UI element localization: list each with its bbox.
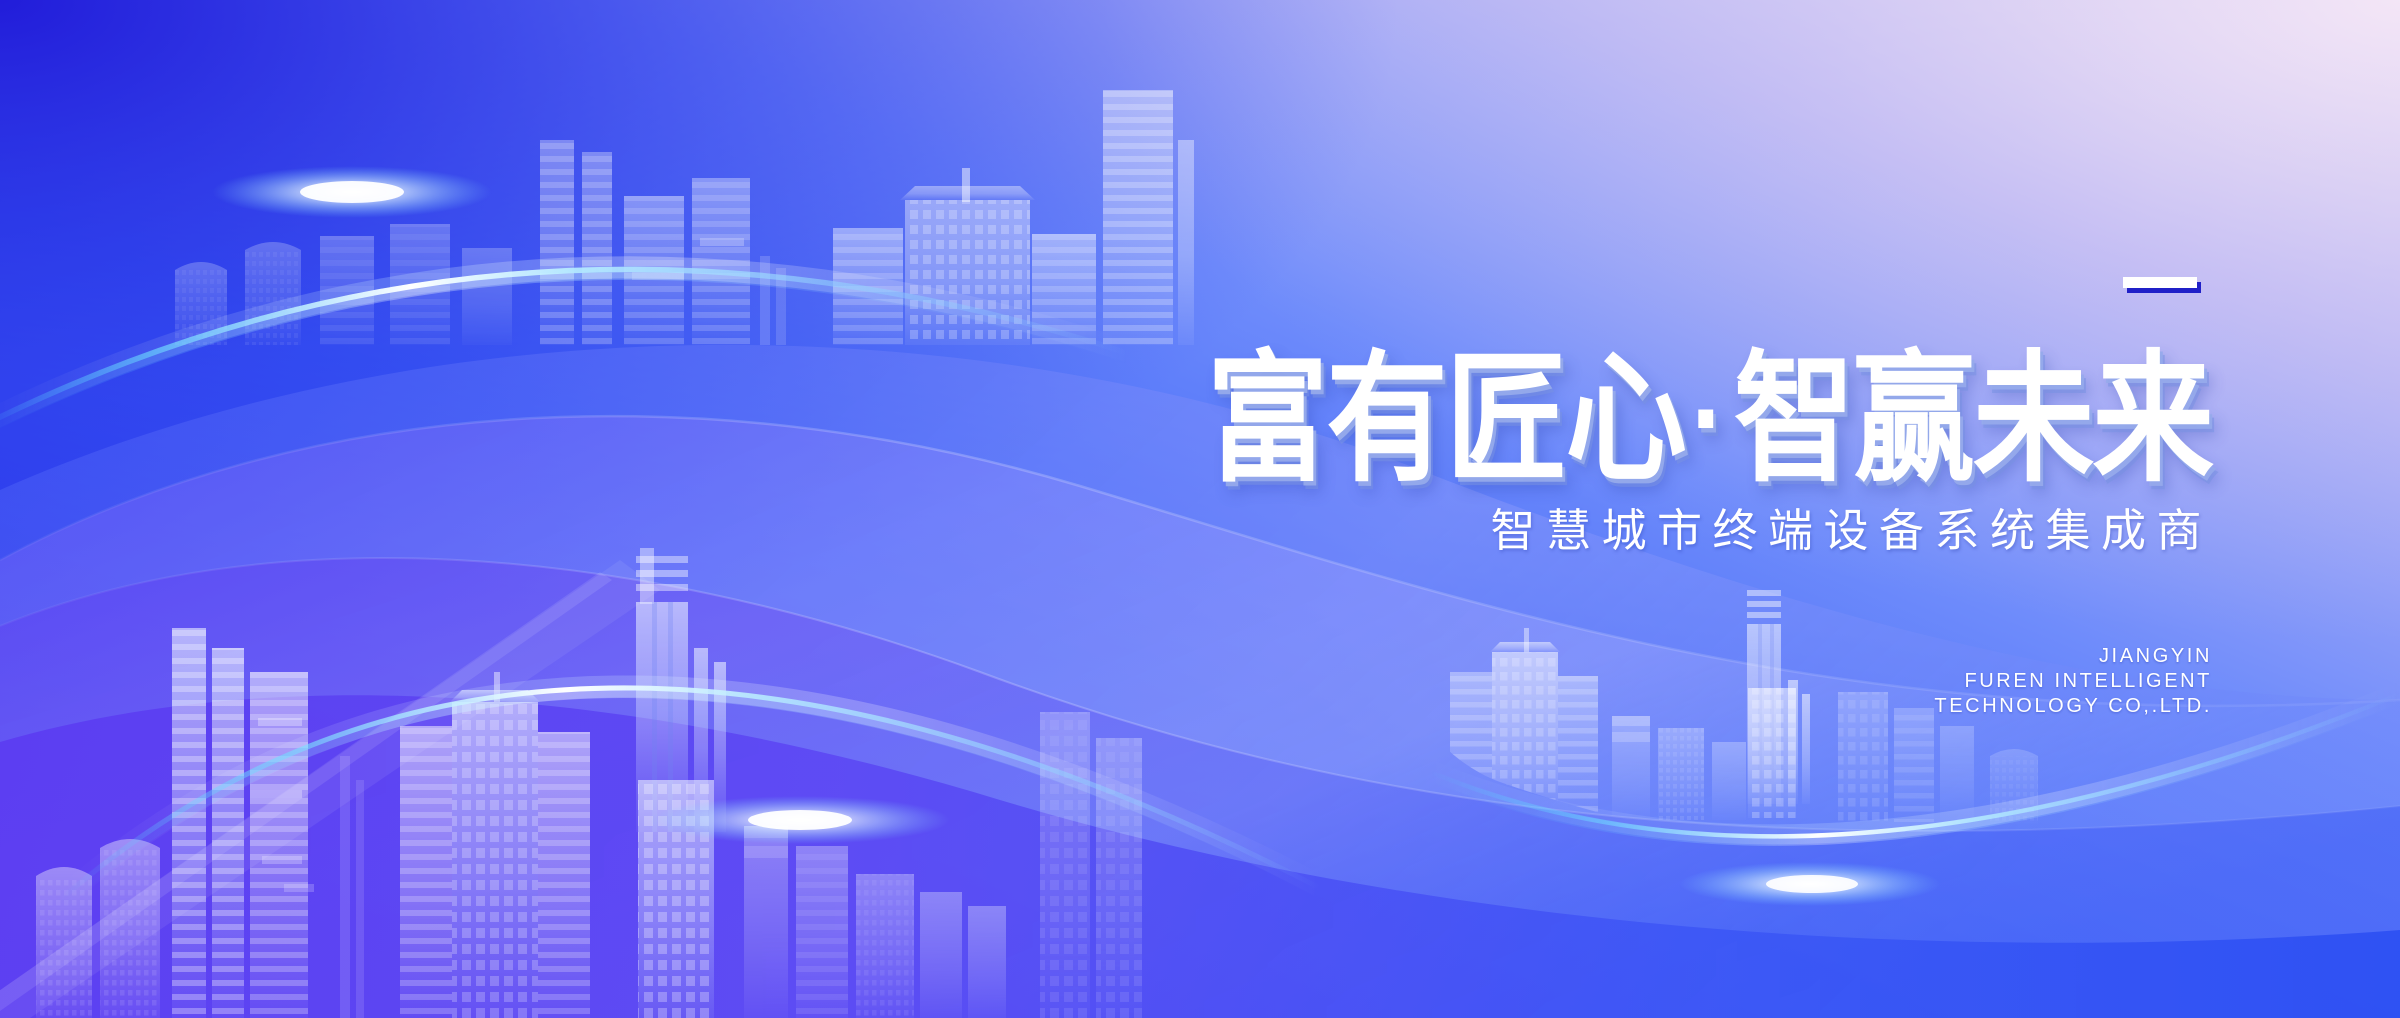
company-name-block: JIANGYIN FUREN INTELLIGENT TECHNOLOGY CO… (1700, 644, 2212, 719)
subtitle: 智慧城市终端设备系统集成商 (1180, 508, 2212, 553)
headline-separator-dot: · (1686, 371, 1724, 469)
company-line-suffix: TECHNOLOGY CO,.LTD. (1700, 694, 2212, 719)
company-line-name: FUREN INTELLIGENT (1700, 669, 2212, 694)
headline-left-text: 富有匠心 (1207, 349, 1685, 490)
headline: 富有匠心 · 智赢未来 (1040, 345, 2212, 495)
accent-dash-mark (2123, 277, 2197, 288)
company-line-city: JIANGYIN (1700, 644, 2212, 669)
headline-right-text: 智赢未来 (1734, 349, 2212, 490)
promotional-banner: 富有匠心 · 智赢未来 智慧城市终端设备系统集成商 JIANGYIN FUREN… (0, 0, 2400, 1018)
subtitle-text: 智慧城市终端设备系统集成商 (1490, 504, 2212, 557)
